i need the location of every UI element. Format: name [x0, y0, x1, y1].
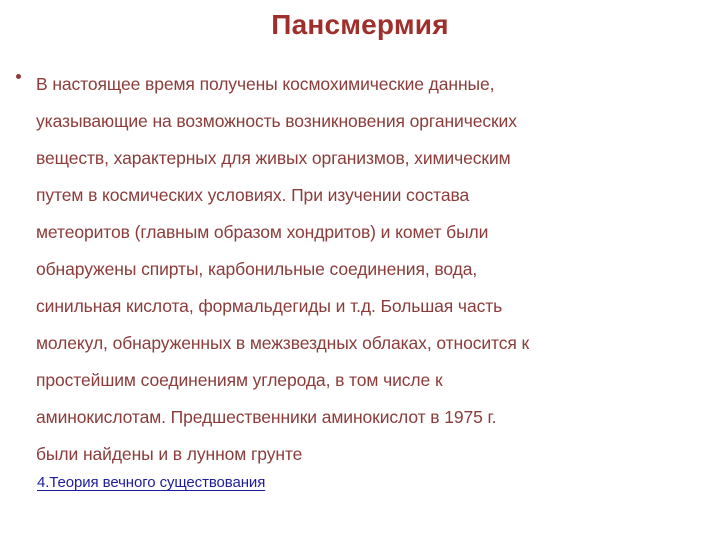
- body-line: указывающие на возможность возникновения…: [36, 103, 708, 140]
- body-line: были найдены и в лунном грунте: [36, 436, 708, 473]
- body-line: веществ, характерных для живых организмо…: [36, 140, 708, 177]
- body-content: В настоящее время получены космохимическ…: [16, 66, 708, 473]
- bullet-text-lines: В настоящее время получены космохимическ…: [36, 66, 708, 473]
- bullet-list-item: В настоящее время получены космохимическ…: [16, 66, 708, 473]
- body-line: В настоящее время получены космохимическ…: [36, 66, 708, 103]
- body-line: путем в космических условиях. При изучен…: [36, 177, 708, 214]
- body-line: простейшим соединениям углерода, в том ч…: [36, 362, 708, 399]
- body-line: молекул, обнаруженных в межзвездных обла…: [36, 325, 708, 362]
- link-row: 4.Теория вечного существования: [37, 472, 697, 494]
- page-title: Пансмермия: [0, 8, 720, 42]
- bullet-dot-icon: [16, 74, 21, 79]
- body-line: аминокислотам. Предшественники аминокисл…: [36, 399, 708, 436]
- body-line: обнаружены спирты, карбонильные соединен…: [36, 251, 708, 288]
- body-line: синильная кислота, формальдегиды и т.д. …: [36, 288, 708, 325]
- slide-canvas: Пансмермия В настоящее время получены ко…: [0, 0, 720, 540]
- body-line: метеоритов (главным образом хондритов) и…: [36, 214, 708, 251]
- next-section-link[interactable]: 4.Теория вечного существования: [37, 474, 265, 491]
